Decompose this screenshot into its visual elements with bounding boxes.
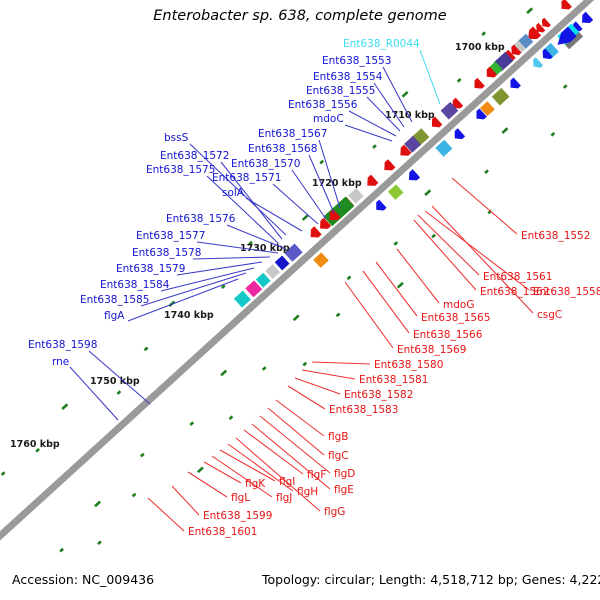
gene-label[interactable]: Ent638_1565 — [421, 312, 490, 324]
strand-tick — [373, 145, 376, 148]
gene-feature[interactable] — [348, 188, 364, 204]
gene-label[interactable]: Ent638_1577 — [136, 230, 205, 242]
gene-feature[interactable] — [451, 128, 465, 142]
page-title: Enterobacter sp. 638, complete genome — [153, 8, 447, 24]
red-gene-labels[interactable]: Ent638_1552Ent638_1561Ent638_1562Ent638_… — [188, 230, 600, 538]
gene-feature[interactable] — [265, 264, 280, 279]
strand-tick — [145, 348, 148, 351]
strand-tick — [221, 371, 226, 376]
gene-label[interactable]: flgB — [328, 431, 348, 443]
gene-label[interactable]: Ent638_1572 — [160, 150, 229, 162]
genome-summary-status: Topology: circular; Length: 4,518,712 bp… — [261, 572, 600, 587]
gene-label[interactable]: Ent638_R0044 — [343, 38, 420, 50]
gene-label[interactable]: flgG — [324, 506, 345, 518]
gene-feature-glyph[interactable] — [275, 256, 290, 271]
strand-tick — [394, 242, 397, 245]
strand-tick — [60, 549, 63, 552]
label-leader-line — [345, 125, 392, 141]
gene-label[interactable]: mdoC — [313, 113, 344, 125]
gene-label[interactable]: Ent638_1579 — [116, 263, 185, 275]
gene-label[interactable]: Ent638_1556 — [288, 99, 358, 111]
gene-feature-glyph[interactable] — [405, 169, 420, 184]
label-leader-line — [376, 262, 417, 316]
strand-tick — [117, 391, 120, 394]
ruler-tick-label: 1760 kbp — [10, 439, 60, 450]
strand-tick — [294, 315, 299, 320]
label-leader-line — [148, 498, 184, 531]
label-leader-line — [319, 140, 340, 208]
gene-label[interactable]: flgC — [328, 450, 349, 462]
strand-tick — [229, 416, 232, 419]
label-leader-line — [70, 367, 118, 420]
gene-feature-glyph[interactable] — [307, 226, 322, 241]
gene-label[interactable]: Ent638_1581 — [359, 374, 428, 386]
ruler-tick-label: 1740 kbp — [164, 310, 214, 321]
gene-feature-glyph[interactable] — [471, 78, 485, 92]
gene-feature-glyph[interactable] — [578, 12, 593, 27]
gene-label[interactable]: Ent638_1580 — [374, 359, 443, 371]
strand-tick — [551, 133, 554, 136]
gene-feature-glyph[interactable] — [451, 128, 465, 142]
strand-tick — [263, 367, 266, 370]
gene-feature[interactable] — [275, 256, 290, 271]
label-leader-line — [302, 370, 355, 379]
gene-label[interactable]: Ent638_1553 — [322, 55, 391, 67]
gene-label[interactable]: flgI — [279, 476, 295, 488]
gene-label[interactable]: flgK — [245, 478, 266, 490]
gene-feature[interactable] — [388, 184, 404, 200]
cyan-leader-lines — [420, 50, 440, 104]
gene-label[interactable]: Ent638_1601 — [188, 526, 257, 538]
gene-label[interactable]: Ent638_1582 — [344, 389, 413, 401]
gene-feature-glyph[interactable] — [348, 188, 364, 204]
gene-label[interactable]: rne — [52, 356, 69, 368]
ruler-tick-label: 1710 kbp — [385, 110, 435, 121]
gene-label[interactable]: Ent638_1561 — [483, 271, 552, 283]
gene-label[interactable]: Ent638_1566 — [413, 329, 483, 341]
strand-tick — [398, 283, 403, 288]
gene-feature-glyph[interactable] — [265, 264, 280, 279]
gene-label[interactable]: Ent638_1571 — [212, 172, 281, 184]
label-leader-line — [177, 262, 262, 275]
strand-tick — [303, 363, 306, 366]
gene-label[interactable]: flgH — [297, 486, 318, 498]
label-leader-line — [452, 178, 517, 234]
label-leader-line — [295, 378, 340, 394]
strand-tick — [133, 494, 136, 497]
gene-label[interactable]: Ent638_1585 — [80, 294, 149, 306]
label-leader-line — [188, 472, 227, 497]
label-leader-line — [414, 220, 476, 290]
gene-feature[interactable] — [558, 0, 572, 13]
strand-tick — [303, 215, 308, 220]
label-leader-line — [312, 362, 370, 364]
strand-tick — [190, 422, 193, 425]
label-leader-line — [260, 416, 330, 473]
gene-label[interactable]: mdoG — [443, 299, 474, 311]
gene-feature[interactable] — [307, 226, 322, 241]
strand-tick — [425, 190, 430, 195]
label-leader-line — [276, 400, 324, 436]
gene-label[interactable]: Ent638_1570 — [231, 158, 300, 170]
strand-tick — [527, 8, 532, 13]
gene-label[interactable]: Ent638_1555 — [306, 85, 375, 97]
label-leader-line — [363, 271, 409, 333]
gene-label[interactable]: Ent638_1567 — [258, 128, 327, 140]
gene-feature[interactable] — [313, 252, 329, 268]
strand-tick — [458, 79, 461, 82]
ruler-tick-label: 1700 kbp — [455, 42, 505, 53]
gene-label[interactable]: flgD — [334, 468, 355, 480]
gene-feature[interactable] — [507, 78, 521, 92]
gene-feature-glyph[interactable] — [364, 175, 379, 190]
ruler-tick-label: 1750 kbp — [90, 376, 140, 387]
gene-label[interactable]: Ent638_1584 — [100, 279, 170, 291]
gene-label[interactable]: Ent638_1576 — [166, 213, 236, 225]
gene-feature-glyph[interactable] — [507, 78, 521, 92]
strand-tick — [564, 85, 567, 88]
gene-feature-glyph[interactable] — [558, 0, 572, 13]
strand-tick — [482, 32, 485, 35]
label-leader-line — [193, 257, 270, 259]
label-leader-line — [420, 50, 440, 104]
gene-label[interactable]: bssS — [164, 132, 189, 144]
gene-feature[interactable] — [364, 175, 379, 190]
genome-map-viewer[interactable]: Enterobacter sp. 638, complete genome 17… — [0, 0, 600, 600]
gene-feature[interactable] — [373, 200, 387, 214]
strand-tick — [222, 285, 225, 288]
gene-label[interactable]: solA — [222, 187, 245, 199]
gene-label[interactable]: Ent638_1599 — [203, 510, 272, 522]
strand-tick — [348, 277, 351, 280]
gene-feature-glyph[interactable] — [313, 252, 329, 268]
gene-label[interactable]: Ent638_1578 — [132, 247, 201, 259]
accession-status: Accession: NC_009436 — [12, 572, 154, 587]
gene-label[interactable]: csgC — [537, 309, 562, 321]
gene-feature[interactable] — [381, 159, 396, 174]
genome-map-canvas[interactable]: Enterobacter sp. 638, complete genome 17… — [0, 0, 600, 600]
strand-tick — [337, 313, 340, 316]
gene-feature[interactable] — [578, 12, 593, 27]
gene-feature-glyph[interactable] — [530, 57, 543, 71]
gene-feature[interactable] — [234, 291, 251, 308]
strand-tick — [485, 170, 488, 173]
gene-label[interactable]: flgE — [334, 484, 354, 496]
gene-label[interactable]: Ent638_1583 — [329, 404, 398, 416]
strand-tick — [432, 235, 435, 238]
gene-feature-glyph[interactable] — [373, 200, 387, 214]
gene-label[interactable]: flgF — [307, 469, 326, 481]
gene-label[interactable]: Ent638_1554 — [313, 71, 383, 83]
gene-label[interactable]: Ent638_1569 — [397, 344, 466, 356]
strand-tick — [2, 472, 5, 475]
gene-label[interactable]: Ent638_1575 — [146, 164, 215, 176]
gene-label[interactable]: flgA — [104, 310, 125, 322]
label-leader-line — [288, 386, 325, 409]
gene-feature[interactable] — [471, 78, 485, 92]
label-leader-line — [397, 249, 439, 303]
strand-tick — [502, 128, 507, 133]
gene-label[interactable]: Ent638_1598 — [28, 339, 97, 351]
strand-tick — [198, 468, 203, 473]
gene-feature[interactable] — [530, 57, 543, 71]
gene-feature-glyph[interactable] — [381, 159, 396, 174]
ruler-ticks: 1700 kbp1710 kbp1720 kbp1730 kbp1740 kbp… — [10, 42, 505, 450]
gene-feature-glyph[interactable] — [388, 184, 404, 200]
strand-tick — [320, 161, 323, 164]
gene-feature[interactable] — [405, 169, 420, 184]
strand-tick — [402, 92, 407, 97]
label-leader-line — [172, 486, 199, 515]
label-leader-line — [345, 282, 393, 348]
gene-label[interactable]: Ent638_1552 — [521, 230, 590, 242]
gene-feature-glyph[interactable] — [234, 291, 251, 308]
strand-tick — [141, 454, 144, 457]
gene-label[interactable]: flgJ — [276, 492, 292, 504]
cyan-gene-labels[interactable]: Ent638_R0044 — [343, 38, 420, 50]
gene-label[interactable]: Ent638_1568 — [248, 143, 317, 155]
gene-feature[interactable] — [435, 140, 452, 157]
strand-tick — [98, 541, 101, 544]
strand-tick — [95, 502, 100, 507]
gene-label[interactable]: Ent638_1558 — [533, 286, 600, 298]
gene-feature-glyph[interactable] — [435, 140, 452, 157]
gene-label[interactable]: flgL — [231, 492, 250, 504]
strand-tick — [62, 404, 67, 409]
